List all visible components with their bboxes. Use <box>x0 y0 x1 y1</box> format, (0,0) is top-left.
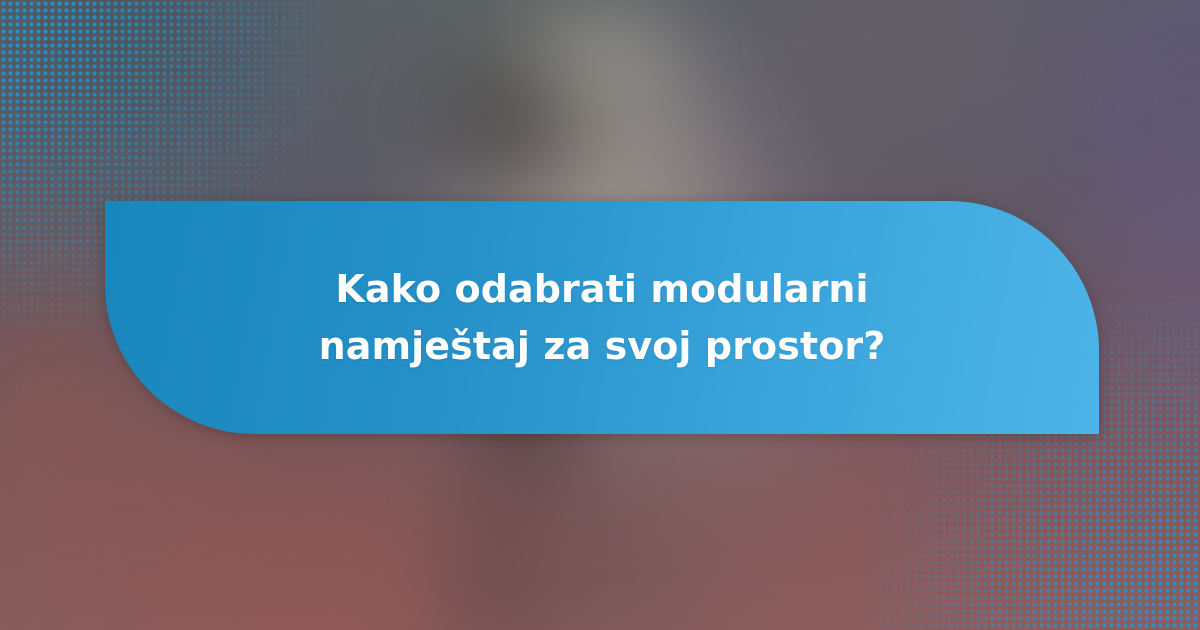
share-card: Kako odabrati modularni namještaj za svo… <box>0 0 1200 630</box>
banner-title: Kako odabrati modularni namještaj za svo… <box>232 261 972 373</box>
title-banner: Kako odabrati modularni namještaj za svo… <box>105 201 1099 434</box>
